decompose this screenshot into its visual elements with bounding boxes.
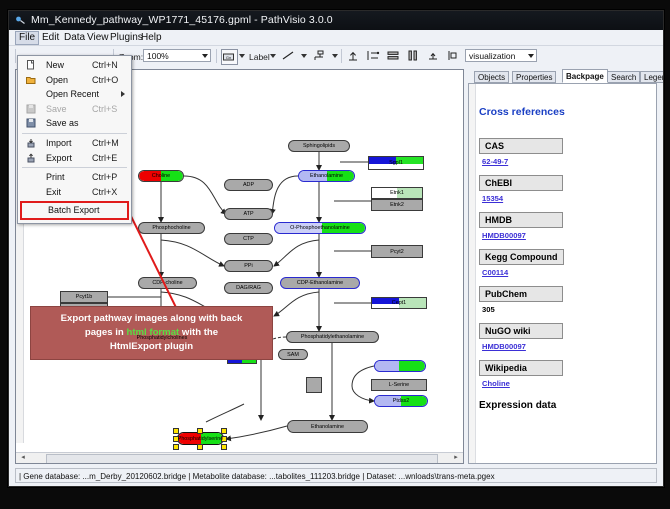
xref-label: ChEBI bbox=[479, 175, 563, 191]
tab-backpage[interactable]: Backpage bbox=[562, 69, 608, 83]
tab-objects[interactable]: Objects bbox=[474, 71, 509, 83]
group-button[interactable] bbox=[446, 49, 461, 63]
submenu-arrow-icon bbox=[121, 91, 125, 97]
menu-item-import[interactable]: Import Ctrl+M bbox=[18, 136, 131, 151]
xref-cas: CAS 62-49-7 bbox=[479, 136, 652, 166]
menu-item-save: Save Ctrl+S bbox=[18, 102, 131, 117]
menu-item-open[interactable]: Open Ctrl+O bbox=[18, 73, 131, 88]
menu-item-export[interactable]: Export Ctrl+E bbox=[18, 151, 131, 166]
xref-label: HMDB bbox=[479, 212, 563, 228]
xref-wikipedia: Wikipedia Choline bbox=[479, 358, 652, 388]
tab-properties[interactable]: Properties bbox=[512, 71, 556, 83]
datanode-dropdown-icon[interactable] bbox=[239, 54, 245, 58]
menu-item-open-recent[interactable]: Open Recent bbox=[18, 87, 131, 102]
xref-value[interactable]: HMDB00097 bbox=[482, 342, 652, 351]
pathvisio-app-icon bbox=[15, 15, 26, 26]
menu-item-print[interactable]: Print Ctrl+P bbox=[18, 170, 131, 185]
scroll-right-arrow-icon[interactable]: ▸ bbox=[451, 454, 461, 462]
common-height-button[interactable] bbox=[426, 49, 441, 63]
status-bar: | Gene database: ...m_Derby_20120602.bri… bbox=[15, 468, 657, 483]
import-icon bbox=[26, 138, 36, 148]
scroll-left-arrow-icon[interactable]: ◂ bbox=[18, 454, 28, 462]
xref-value[interactable]: HMDB00097 bbox=[482, 231, 652, 240]
xref-value[interactable]: 62-49-7 bbox=[482, 157, 652, 166]
folder-open-icon bbox=[26, 75, 36, 85]
callout-line-2-pre: pages in bbox=[85, 327, 127, 338]
interaction-button[interactable] bbox=[312, 49, 327, 63]
cross-references-heading: Cross references bbox=[479, 106, 652, 118]
xref-value[interactable]: C00114 bbox=[482, 268, 652, 277]
label-button[interactable]: Label bbox=[249, 52, 270, 62]
xref-value[interactable]: Choline bbox=[482, 379, 652, 388]
zoom-value: 100% bbox=[147, 51, 169, 61]
toolbar-separator bbox=[216, 49, 217, 63]
screenshot-frame: Mm_Kennedy_pathway_WP1771_45176.gpml - P… bbox=[0, 0, 670, 509]
save-disk-icon bbox=[26, 104, 36, 114]
xref-nugo-wiki: NuGO wiki HMDB00097 bbox=[479, 321, 652, 351]
menu-separator bbox=[22, 167, 127, 168]
xref-label: NuGO wiki bbox=[479, 323, 563, 339]
line-dropdown-icon[interactable] bbox=[301, 54, 307, 58]
xref-label: CAS bbox=[479, 138, 563, 154]
chevron-down-icon bbox=[528, 54, 534, 58]
menu-help[interactable]: Help bbox=[137, 31, 166, 45]
menu-item-save-as[interactable]: Save as bbox=[18, 116, 131, 131]
tab-legend[interactable]: Legend bbox=[640, 71, 664, 83]
xref-hmdb: HMDB HMDB00097 bbox=[479, 210, 652, 240]
menu-item-batch-export[interactable]: Batch Export bbox=[20, 201, 129, 220]
expression-data-heading: Expression data bbox=[479, 400, 652, 411]
callout-line-1: Export pathway images along with back bbox=[35, 312, 268, 326]
scrollbar-thumb[interactable] bbox=[46, 454, 438, 464]
callout-line-3: HtmlExport plugin bbox=[35, 340, 268, 354]
xref-kegg-compound: Kegg Compound C00114 bbox=[479, 247, 652, 277]
xref-pubchem: PubChem 305 bbox=[479, 284, 652, 314]
zoom-combo[interactable]: 100% bbox=[143, 49, 211, 62]
side-panel-tabs: Objects Properties Backpage Search Legen… bbox=[468, 69, 657, 83]
side-panel-scrollbar[interactable] bbox=[469, 84, 476, 463]
align-left-button[interactable] bbox=[366, 49, 381, 63]
tab-search[interactable]: Search bbox=[607, 71, 640, 83]
xref-value[interactable]: 15354 bbox=[482, 194, 652, 203]
menu-item-exit[interactable]: Exit Ctrl+X bbox=[18, 185, 131, 200]
line-button[interactable] bbox=[281, 49, 296, 63]
backpage-content: Cross references CAS 62-49-7 ChEBI 15354… bbox=[468, 83, 657, 464]
toolbar-separator bbox=[341, 49, 342, 63]
visualization-combo[interactable]: visualization bbox=[465, 49, 537, 62]
annotation-callout: Export pathway images along with back pa… bbox=[30, 306, 273, 360]
menu-item-new[interactable]: New Ctrl+N bbox=[18, 58, 131, 73]
export-icon bbox=[26, 153, 36, 163]
xref-label: Wikipedia bbox=[479, 360, 563, 376]
application-window: Mm_Kennedy_pathway_WP1771_45176.gpml - P… bbox=[8, 10, 664, 487]
menu-file[interactable]: File bbox=[15, 31, 39, 45]
new-document-icon bbox=[26, 60, 36, 70]
xref-label: PubChem bbox=[479, 286, 563, 302]
main-area: Sphingolipids Sgpl1 Choline Ethanolamine bbox=[9, 65, 663, 486]
align-top-button[interactable] bbox=[346, 49, 361, 63]
datanode-button[interactable]: Gn bbox=[221, 49, 238, 65]
xref-label: Kegg Compound bbox=[479, 249, 564, 265]
svg-text:Gn: Gn bbox=[226, 55, 231, 60]
visualization-value: visualization bbox=[469, 51, 515, 61]
file-menu-dropdown[interactable]: New Ctrl+N Open Ctrl+O Open Recent Save … bbox=[17, 55, 132, 224]
save-as-icon bbox=[26, 118, 36, 128]
title-bar: Mm_Kennedy_pathway_WP1771_45176.gpml - P… bbox=[9, 11, 663, 30]
stack-button[interactable] bbox=[386, 49, 401, 63]
side-panel: Objects Properties Backpage Search Legen… bbox=[468, 69, 657, 464]
window-title: Mm_Kennedy_pathway_WP1771_45176.gpml - P… bbox=[31, 14, 333, 26]
toolbar-separator bbox=[15, 49, 16, 63]
interaction-dropdown-icon[interactable] bbox=[332, 54, 338, 58]
xref-chebi: ChEBI 15354 bbox=[479, 173, 652, 203]
canvas-horizontal-scrollbar[interactable]: ◂ ▸ bbox=[16, 452, 463, 463]
xref-value: 305 bbox=[482, 305, 652, 314]
menu-bar: File Edit Data View Plugins Help bbox=[9, 30, 663, 46]
menu-separator bbox=[22, 133, 127, 134]
label-dropdown-icon[interactable] bbox=[270, 54, 276, 58]
chevron-down-icon bbox=[202, 54, 208, 58]
common-width-button[interactable] bbox=[406, 49, 421, 63]
